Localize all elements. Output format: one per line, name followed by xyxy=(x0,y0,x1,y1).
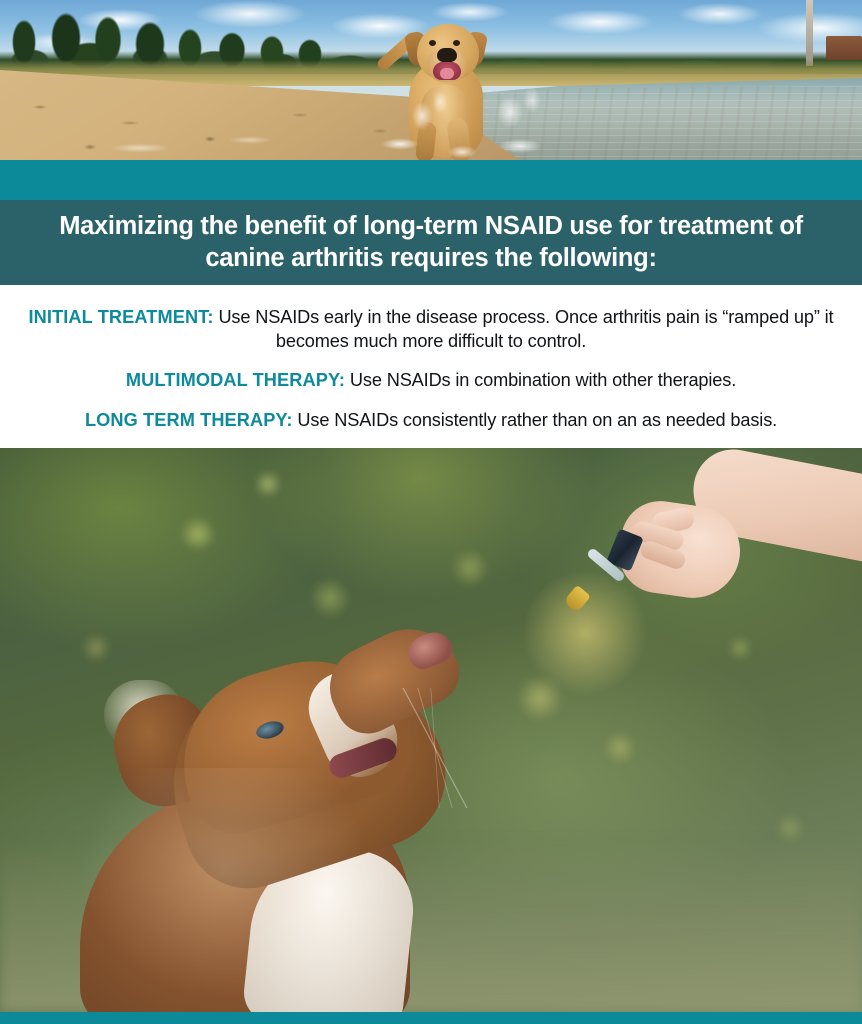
bottom-dog-dropper-photo: HUMAN MEDICATIONS ARE NOT SAFE FOR PETS … xyxy=(0,448,862,1012)
utility-pole xyxy=(806,0,813,66)
accent-teal-band xyxy=(0,160,862,200)
key-point-text: Use NSAIDs early in the disease process.… xyxy=(214,307,834,351)
key-point-text: Use NSAIDs in combination with other the… xyxy=(345,370,736,390)
key-point-text: Use NSAIDs consistently rather than on a… xyxy=(293,410,778,430)
lakeside-cabin xyxy=(826,36,862,60)
key-points-section: INITIAL TREATMENT: Use NSAIDs early in t… xyxy=(0,285,862,448)
shepherd-dog-illustration xyxy=(60,618,580,1012)
water-splash-secondary xyxy=(80,118,340,160)
key-point-initial-treatment: INITIAL TREATMENT: Use NSAIDs early in t… xyxy=(24,305,838,353)
footer-teal-band xyxy=(0,1012,862,1024)
key-point-multimodal-therapy: MULTIMODAL THERAPY: Use NSAIDs in combin… xyxy=(24,368,838,392)
dog-nose xyxy=(437,48,457,62)
heading-band: Maximizing the benefit of long-term NSAI… xyxy=(0,200,862,285)
page-title: Maximizing the benefit of long-term NSAI… xyxy=(26,211,836,273)
key-point-label: INITIAL TREATMENT: xyxy=(29,307,214,327)
heading-line-2: canine arthritis requires the following: xyxy=(205,244,656,272)
water-splash-primary xyxy=(370,82,570,160)
dog-tongue xyxy=(440,68,454,79)
top-dog-beach-photo xyxy=(0,0,862,160)
key-point-label: MULTIMODAL THERAPY: xyxy=(126,370,345,390)
dog-fur-rimlight xyxy=(60,768,360,1012)
infographic-page: Maximizing the benefit of long-term NSAI… xyxy=(0,0,862,1024)
dog-right-eye xyxy=(453,40,460,46)
key-point-long-term-therapy: LONG TERM THERAPY: Use NSAIDs consistent… xyxy=(24,408,838,432)
heading-line-1: Maximizing the benefit of long-term NSAI… xyxy=(59,212,803,240)
dog-left-eye xyxy=(429,40,436,46)
key-point-label: LONG TERM THERAPY: xyxy=(85,410,293,430)
dog-whiskers xyxy=(360,688,510,808)
